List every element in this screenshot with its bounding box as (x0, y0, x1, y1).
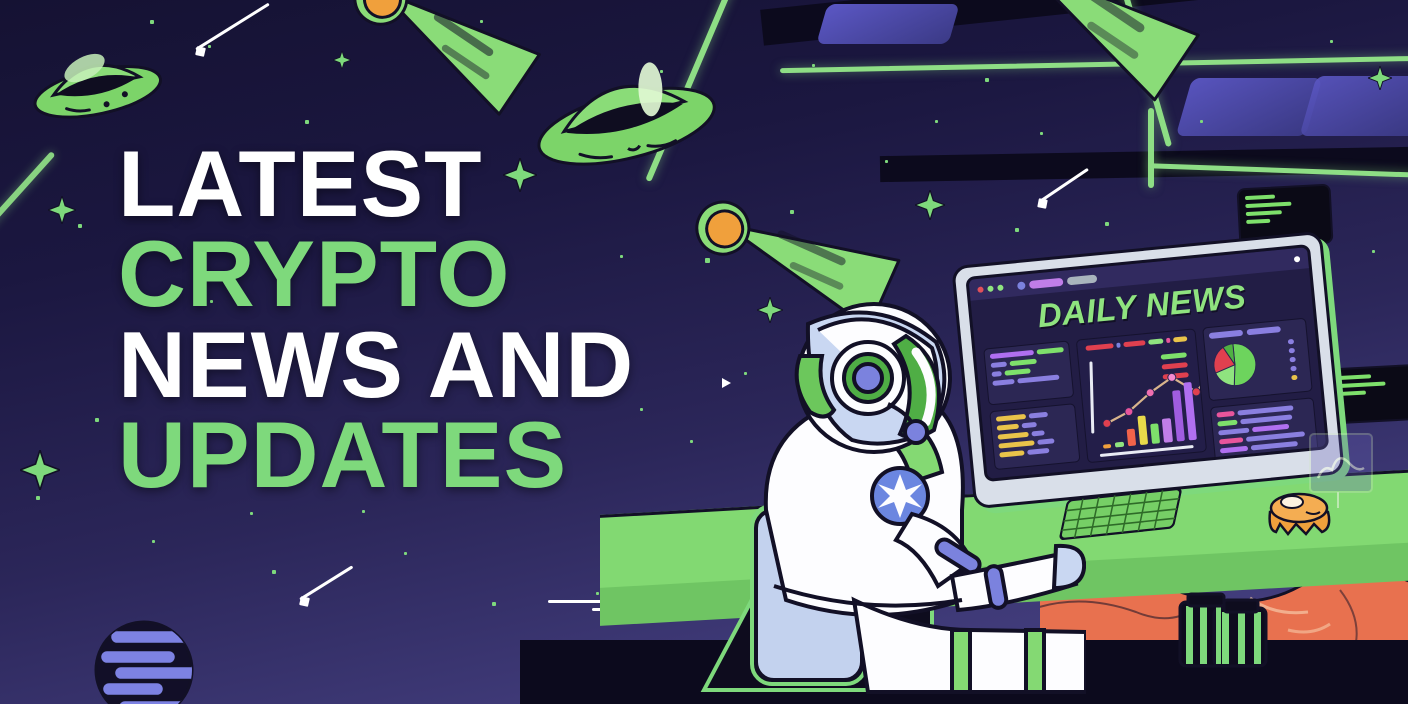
dashboard-bar (999, 450, 1025, 457)
wall-terminal-bottom (1329, 364, 1408, 425)
bar (1137, 415, 1148, 445)
star-dot (744, 372, 747, 375)
chart-legend-chip (1166, 338, 1171, 343)
star-dot (492, 602, 496, 606)
window-dot-maximize[interactable] (997, 284, 1004, 291)
dashboard-bar (991, 361, 1008, 368)
star-dot (1330, 40, 1333, 43)
star-dot (305, 120, 309, 124)
star-dot (95, 418, 99, 422)
shooting-star-icon (299, 565, 353, 600)
dashboard-bar (1005, 368, 1031, 375)
pie-legend (1286, 324, 1306, 387)
star-dot (208, 45, 211, 48)
bar (1162, 418, 1172, 442)
shooting-star-icon (1039, 168, 1089, 203)
headline-line-4: UPDATES (118, 411, 738, 499)
dashboard-bar (997, 432, 1028, 440)
bar (1103, 444, 1112, 449)
search-pill[interactable] (1067, 274, 1098, 285)
sparkle-star-icon (20, 450, 60, 490)
bar (1172, 390, 1185, 442)
dashboard-bar (990, 350, 1034, 359)
dashboard-bar (1250, 441, 1298, 451)
chart-legend-chip (1148, 338, 1163, 344)
terminal-line (1245, 195, 1275, 201)
dashboard (983, 318, 1317, 470)
bar (1115, 441, 1124, 447)
pie-card (1202, 318, 1313, 402)
star-dot (404, 552, 407, 555)
dashboard-bar (1240, 414, 1292, 424)
terminal-line (1337, 382, 1385, 389)
dashboard-bar (1022, 422, 1037, 428)
dashboard-bar (991, 371, 1002, 377)
star-dot (812, 64, 815, 67)
banner-illustration: DAILY NEWS (0, 0, 1408, 704)
dashboard-bar (1217, 420, 1238, 427)
star-dot (596, 592, 599, 595)
shooting-star-head-icon (1037, 198, 1048, 209)
dashboard-bar (1289, 348, 1296, 354)
chart-legend-chip (1123, 340, 1145, 347)
left-card-top (983, 340, 1074, 405)
chart-legend-chip (1116, 343, 1121, 348)
shooting-star-icon (195, 3, 270, 51)
chart-legend-chip (1173, 336, 1187, 342)
monitor[interactable]: DAILY NEWS (951, 231, 1345, 510)
left-card-bottom (989, 403, 1080, 470)
sparkle-star-icon (333, 51, 351, 69)
dashboard-bar (1291, 375, 1298, 381)
star-dot (78, 224, 82, 228)
canisters-icon (1178, 588, 1270, 673)
dashboard-bar (1037, 347, 1064, 355)
star-dot (250, 512, 253, 515)
star-dot (935, 120, 938, 123)
dashboard-bar (1031, 430, 1045, 436)
bar (1150, 423, 1160, 443)
pie-chart (1210, 340, 1260, 390)
dashboard-bar (1219, 437, 1243, 444)
star-dot (362, 510, 365, 513)
dashboard-bar (1290, 366, 1297, 372)
star-dot (36, 496, 40, 500)
dashboard-bar (992, 379, 1015, 386)
chart-legend-chip (1085, 343, 1113, 351)
dashboard-bar (1037, 438, 1055, 445)
headline-block: LATEST CRYPTO NEWS AND UPDATES (118, 140, 738, 501)
headline-line-3: NEWS AND (118, 321, 738, 409)
bar (1126, 428, 1136, 446)
sparkle-star-icon (915, 190, 945, 220)
dashboard-bar (1216, 411, 1235, 418)
star-dot (1015, 228, 1019, 232)
star-dot (1105, 222, 1109, 226)
terminal-line (1338, 391, 1366, 396)
address-pill[interactable] (1029, 277, 1064, 288)
dashboard-bar (1027, 448, 1050, 455)
dashboard-bar (1017, 375, 1059, 384)
dashboard-bar (1289, 357, 1296, 363)
dashboard-bar (1220, 446, 1248, 454)
menu-dot[interactable] (1294, 255, 1301, 262)
terminal-line (1337, 374, 1371, 380)
window-dot-close[interactable] (977, 286, 984, 293)
terminal-line (1246, 210, 1282, 216)
dashboard-bar (1288, 339, 1295, 345)
dashboard-bar (997, 424, 1020, 431)
star-dot (985, 78, 989, 82)
sparkle-star-icon (48, 196, 76, 224)
chart-card (1076, 328, 1207, 463)
star-dot (152, 540, 155, 543)
star-dot (1372, 250, 1375, 253)
dashboard-right-column (1202, 318, 1317, 449)
star-dot (885, 160, 888, 163)
dashboard-bar (1028, 412, 1048, 419)
star-dot (272, 570, 276, 574)
monitor-screen[interactable]: DAILY NEWS (965, 244, 1329, 482)
dashboard-bar (1010, 359, 1037, 367)
shooting-star-head-icon (195, 46, 206, 57)
planet-bottom-left-icon (92, 618, 196, 704)
dashboard-center-column (1076, 328, 1207, 461)
dashboard-left-column (983, 340, 1080, 470)
tab-indicator (1017, 281, 1026, 290)
shooting-star-head-icon (299, 596, 310, 607)
sparkle-star-icon (1368, 66, 1392, 90)
dashboard-bar (1218, 428, 1250, 436)
star-dot (1040, 132, 1043, 135)
dashboard-bar (998, 440, 1034, 448)
headline-line-1: LATEST (118, 140, 738, 228)
terminal-line (1245, 202, 1291, 208)
dashboard-bar (996, 414, 1026, 422)
window-dot-minimize[interactable] (987, 285, 994, 292)
headline-line-2: CRYPTO (118, 230, 738, 318)
desk-orange-object-icon (1262, 484, 1338, 543)
dashboard-bar (1252, 424, 1289, 433)
bar-chart (1097, 374, 1197, 449)
star-dot (1200, 120, 1203, 123)
terminal-line (1246, 219, 1270, 224)
